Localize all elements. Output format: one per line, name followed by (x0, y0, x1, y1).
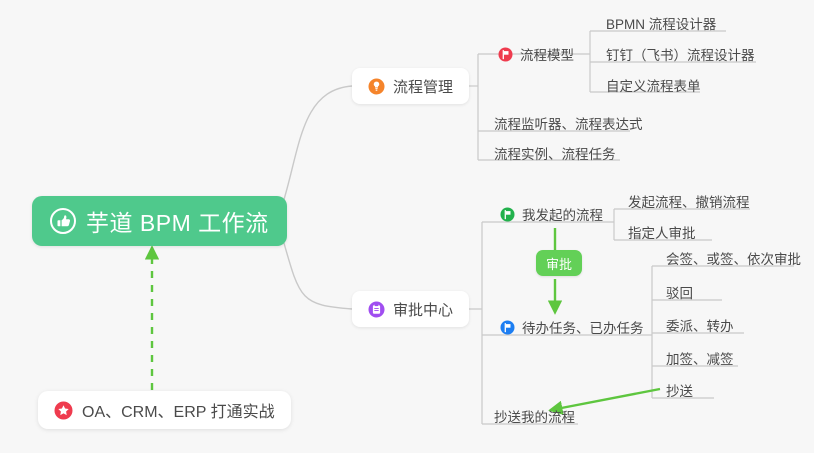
node-label: 待办任务、已办任务 (522, 317, 644, 337)
lightbulb-pin-icon (368, 78, 385, 95)
root-node[interactable]: 芋道 BPM 工作流 (32, 196, 287, 246)
node-label: 驳回 (666, 282, 693, 302)
node-label: 委派、转办 (666, 315, 734, 335)
node-start-cancel-process[interactable]: 发起流程、撤销流程 (622, 187, 756, 215)
approval-badge-label: 审批 (546, 254, 572, 273)
node-label: 自定义流程表单 (606, 75, 701, 95)
node-process-management[interactable]: 流程管理 (352, 68, 469, 104)
node-label: 流程模型 (520, 44, 574, 64)
node-bpmn-designer[interactable]: BPMN 流程设计器 (600, 9, 722, 37)
node-delegate-transfer[interactable]: 委派、转办 (660, 311, 740, 339)
node-todo-done-tasks[interactable]: 待办任务、已办任务 (494, 313, 650, 341)
node-process-listener[interactable]: 流程监听器、流程表达式 (488, 109, 649, 137)
node-cc-my-process[interactable]: 抄送我的流程 (488, 402, 581, 430)
node-my-started-process[interactable]: 我发起的流程 (494, 200, 609, 228)
node-label: 发起流程、撤销流程 (628, 191, 750, 211)
node-label: 我发起的流程 (522, 204, 603, 224)
node-cc[interactable]: 抄送 (660, 376, 699, 404)
integration-chip[interactable]: OA、CRM、ERP 打通实战 (38, 391, 291, 429)
node-label: 流程管理 (393, 76, 453, 97)
node-label: 抄送 (666, 380, 693, 400)
node-label: 流程监听器、流程表达式 (494, 113, 643, 133)
node-label: BPMN 流程设计器 (606, 13, 716, 33)
node-custom-form[interactable]: 自定义流程表单 (600, 71, 707, 99)
node-add-remove-sign[interactable]: 加签、减签 (660, 344, 740, 372)
node-label: 加签、减签 (666, 348, 734, 368)
node-countersign[interactable]: 会签、或签、依次审批 (660, 244, 807, 272)
node-label: 审批中心 (393, 299, 453, 320)
mindmap-canvas: 芋道 BPM 工作流 流程管理 流程模型 BPMN 流程设计器 钉钉（飞书）流程 (0, 0, 814, 453)
link-root-approval-center (282, 236, 352, 309)
node-dingtalk-designer[interactable]: 钉钉（飞书）流程设计器 (600, 40, 761, 68)
thumbs-up-icon (50, 208, 76, 234)
node-reject[interactable]: 驳回 (660, 278, 699, 306)
root-label: 芋道 BPM 工作流 (86, 204, 269, 238)
node-label: 钉钉（飞书）流程设计器 (606, 44, 755, 64)
flag-icon (500, 320, 515, 335)
approval-badge[interactable]: 审批 (536, 250, 582, 276)
flag-icon (500, 207, 515, 222)
node-approval-center[interactable]: 审批中心 (352, 291, 469, 327)
node-assignee-approval[interactable]: 指定人审批 (622, 218, 702, 246)
node-label: 流程实例、流程任务 (494, 143, 616, 163)
node-label: 会签、或签、依次审批 (666, 248, 801, 268)
clipboard-icon (368, 301, 385, 318)
node-label: 抄送我的流程 (494, 406, 575, 426)
node-label: 指定人审批 (628, 222, 696, 242)
node-process-model[interactable]: 流程模型 (492, 40, 580, 68)
link-root-process-management (282, 86, 352, 206)
flag-icon (498, 47, 513, 62)
integration-chip-label: OA、CRM、ERP 打通实战 (82, 398, 275, 422)
star-icon (54, 401, 73, 420)
node-process-instance[interactable]: 流程实例、流程任务 (488, 139, 622, 167)
